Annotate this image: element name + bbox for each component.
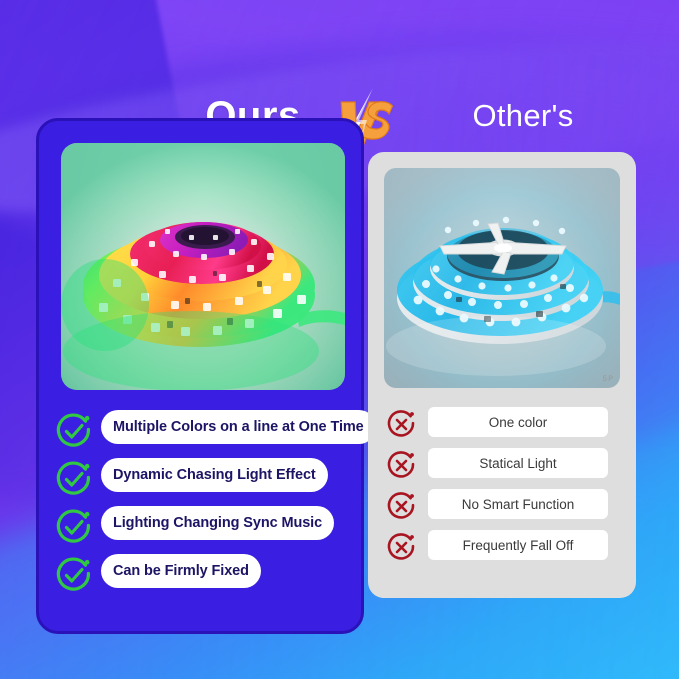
list-item[interactable]: Statical Light (378, 445, 628, 486)
list-item[interactable]: Can be Firmly Fixed (53, 551, 353, 599)
cross-circle-icon (386, 450, 417, 481)
check-circle-icon (55, 556, 93, 594)
ours-panel: Multiple Colors on a line at One Time Dy… (36, 118, 364, 634)
ours-feature-label: Can be Firmly Fixed (101, 554, 261, 588)
list-item[interactable]: No Smart Function (378, 486, 628, 527)
check-circle-icon (55, 460, 93, 498)
comparison-infographic: Ours Other's (0, 0, 679, 679)
others-feature-label: No Smart Function (428, 489, 608, 519)
ours-feature-list: Multiple Colors on a line at One Time Dy… (53, 407, 353, 599)
others-panel: 5P One color (368, 152, 636, 598)
ours-product-image (61, 143, 345, 390)
list-item[interactable]: One color (378, 404, 628, 445)
ours-feature-label: Lighting Changing Sync Music (101, 506, 334, 540)
others-feature-label: One color (428, 407, 608, 437)
list-item[interactable]: Dynamic Chasing Light Effect (53, 455, 353, 503)
others-product-image: 5P (384, 168, 620, 388)
cross-circle-icon (386, 409, 417, 440)
list-item[interactable]: Lighting Changing Sync Music (53, 503, 353, 551)
cross-circle-icon (386, 532, 417, 563)
image-watermark: 5P (602, 375, 614, 384)
check-circle-icon (55, 508, 93, 546)
list-item[interactable]: Multiple Colors on a line at One Time (53, 407, 353, 455)
cross-circle-icon (386, 491, 417, 522)
others-feature-list: One color Statical Light (378, 404, 628, 568)
ours-feature-label: Multiple Colors on a line at One Time (101, 410, 376, 444)
others-feature-label: Frequently Fall Off (428, 530, 608, 560)
check-circle-icon (55, 412, 93, 450)
list-item[interactable]: Frequently Fall Off (378, 527, 628, 568)
others-feature-label: Statical Light (428, 448, 608, 478)
ours-feature-label: Dynamic Chasing Light Effect (101, 458, 328, 492)
header: Ours Other's (0, 44, 679, 122)
others-title: Other's (408, 98, 638, 134)
